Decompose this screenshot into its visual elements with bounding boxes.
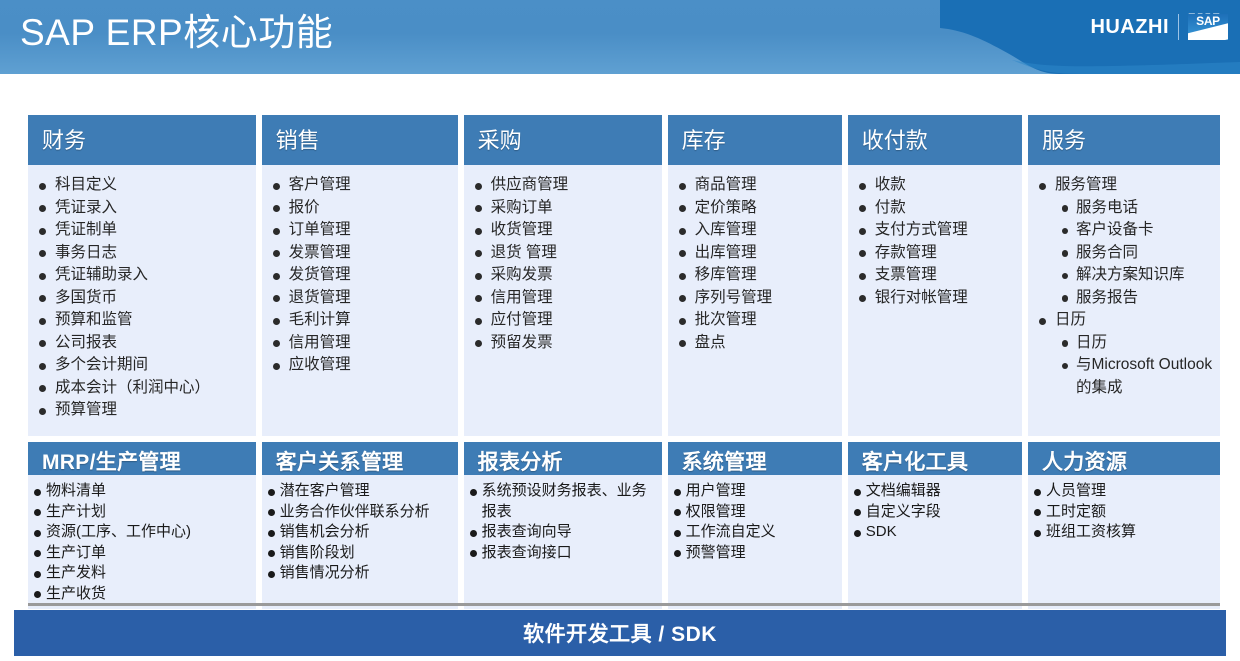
module-card-body: 服务管理 服务电话 客户设备卡 服务合同 解决方案知识库 服务报告 日历 日历 … [1028, 165, 1220, 436]
footer-sdk-bar[interactable]: 软件开发工具 / SDK [14, 610, 1226, 656]
list-item[interactable]: 存款管理 [858, 242, 1016, 265]
header-brand-area: HUAZHI SAP [940, 0, 1240, 74]
module-card-purchasing[interactable]: 采购 供应商管理 采购订单 收货管理 退货 管理 采购发票 信用管理 应付管理 … [464, 115, 662, 436]
module-card-body: 收款 付款 支付方式管理 存款管理 支票管理 银行对帐管理 [848, 165, 1022, 436]
module-item-list: 物料清单 生产计划 资源(工序、工作中心) 生产订单 生产发料 生产收货 [34, 481, 252, 604]
list-item[interactable]: 报表查询向导 [470, 522, 658, 543]
module-item-list: 用户管理 权限管理 工作流自定义 预警管理 [674, 481, 838, 563]
list-item[interactable]: 自定义字段 [854, 502, 1018, 523]
brand-divider [1178, 14, 1179, 40]
list-item[interactable]: 预算和监管 [38, 309, 250, 332]
list-item[interactable]: 发票管理 [272, 242, 452, 265]
module-item-list: 人员管理 工时定额 班组工资核算 [1034, 481, 1216, 543]
sap-logo-badge: SAP [1188, 14, 1228, 40]
list-item[interactable]: 支付方式管理 [858, 219, 1016, 242]
list-item[interactable]: 出库管理 [678, 242, 836, 265]
module-item-list: 系统预设财务报表、业务报表 报表查询向导 报表查询接口 [470, 481, 658, 563]
brand-name: HUAZHI [1090, 14, 1169, 40]
module-item-list: 潜在客户管理 业务合作伙伴联系分析 销售机会分析 销售阶段划 销售情况分析 [268, 481, 454, 584]
list-item[interactable]: 生产计划 [34, 502, 252, 523]
module-card-mrp[interactable]: MRP/生产管理 物料清单 生产计划 资源(工序、工作中心) 生产订单 生产发料… [28, 442, 256, 609]
list-item[interactable]: 班组工资核算 [1034, 522, 1216, 543]
footer-sdk-label: 软件开发工具 / SDK [523, 618, 717, 648]
list-item[interactable]: 收款 [858, 174, 1016, 197]
list-item[interactable]: 付款 [858, 197, 1016, 220]
module-card-title: 财务 [28, 115, 256, 165]
module-card-body: 文档编辑器 自定义字段 SDK [848, 475, 1022, 609]
module-card-body: 系统预设财务报表、业务报表 报表查询向导 报表查询接口 [464, 475, 662, 609]
module-row-primary: 财务 科目定义 凭证录入 凭证制单 事务日志 凭证辅助录入 多国货币 预算和监管… [28, 115, 1220, 436]
module-card-title: 服务 [1028, 115, 1220, 165]
module-card-body: 供应商管理 采购订单 收货管理 退货 管理 采购发票 信用管理 应付管理 预留发… [464, 165, 662, 436]
list-item[interactable]: 生产订单 [34, 543, 252, 564]
list-item[interactable]: SDK [854, 522, 1018, 543]
module-card-system-admin[interactable]: 系统管理 用户管理 权限管理 工作流自定义 预警管理 [668, 442, 842, 609]
module-card-reporting[interactable]: 报表分析 系统预设财务报表、业务报表 报表查询向导 报表查询接口 [464, 442, 662, 609]
list-item[interactable]: 销售机会分析 [268, 522, 454, 543]
list-item[interactable]: 凭证制单 [38, 219, 250, 242]
module-card-crm[interactable]: 客户关系管理 潜在客户管理 业务合作伙伴联系分析 销售机会分析 销售阶段划 销售… [262, 442, 458, 609]
module-card-title: 客户关系管理 [262, 442, 458, 475]
page-header: SAP ERP核心功能 HUAZHI SAP [0, 0, 1240, 74]
list-item[interactable]: 批次管理 [678, 309, 836, 332]
module-card-sales[interactable]: 销售 客户管理 报价 订单管理 发票管理 发货管理 退货管理 毛利计算 信用管理… [262, 115, 458, 436]
list-item[interactable]: 预警管理 [674, 543, 838, 564]
footer-divider [28, 603, 1220, 606]
module-card-title: 采购 [464, 115, 662, 165]
module-item-list: 服务管理 服务电话 客户设备卡 服务合同 解决方案知识库 服务报告 日历 日历 … [1038, 174, 1214, 399]
list-item[interactable]: 发货管理 [272, 264, 452, 287]
module-card-service[interactable]: 服务 服务管理 服务电话 客户设备卡 服务合同 解决方案知识库 服务报告 日历 … [1028, 115, 1220, 436]
list-item[interactable]: 人员管理 [1034, 481, 1216, 502]
module-board: 财务 科目定义 凭证录入 凭证制单 事务日志 凭证辅助录入 多国货币 预算和监管… [0, 74, 1240, 661]
module-row-secondary: MRP/生产管理 物料清单 生产计划 资源(工序、工作中心) 生产订单 生产发料… [28, 442, 1220, 609]
list-item[interactable]: 预算管理 [38, 399, 250, 422]
list-item[interactable]: 收货管理 [474, 219, 656, 242]
list-item[interactable]: 盘点 [678, 332, 836, 355]
list-item[interactable]: 凭证辅助录入 [38, 264, 250, 287]
list-item[interactable]: 服务合同 [1038, 242, 1214, 265]
list-item[interactable]: 应收管理 [272, 354, 452, 377]
module-item-list: 供应商管理 采购订单 收货管理 退货 管理 采购发票 信用管理 应付管理 预留发… [474, 174, 656, 354]
module-card-title: 库存 [668, 115, 842, 165]
list-item[interactable]: 日历 [1038, 309, 1214, 332]
list-item[interactable]: 商品管理 [678, 174, 836, 197]
list-item[interactable]: 客户设备卡 [1038, 219, 1214, 242]
module-card-body: 用户管理 权限管理 工作流自定义 预警管理 [668, 475, 842, 609]
list-item[interactable]: 与Microsoft Outlook 的集成 [1038, 354, 1214, 399]
module-item-list: 收款 付款 支付方式管理 存款管理 支票管理 银行对帐管理 [858, 174, 1016, 309]
module-card-body: 物料清单 生产计划 资源(工序、工作中心) 生产订单 生产发料 生产收货 [28, 475, 256, 609]
list-item[interactable]: 销售阶段划 [268, 543, 454, 564]
module-card-title: 人力资源 [1028, 442, 1220, 475]
list-item[interactable]: 采购订单 [474, 197, 656, 220]
list-item[interactable]: 报价 [272, 197, 452, 220]
module-card-title: MRP/生产管理 [28, 442, 256, 475]
module-card-payments[interactable]: 收付款 收款 付款 支付方式管理 存款管理 支票管理 银行对帐管理 [848, 115, 1022, 436]
list-item[interactable]: 银行对帐管理 [858, 287, 1016, 310]
module-card-body: 客户管理 报价 订单管理 发票管理 发货管理 退货管理 毛利计算 信用管理 应收… [262, 165, 458, 436]
module-card-hr[interactable]: 人力资源 人员管理 工时定额 班组工资核算 [1028, 442, 1220, 609]
list-item[interactable]: 定价策略 [678, 197, 836, 220]
list-item[interactable]: 资源(工序、工作中心) [34, 522, 252, 543]
list-item[interactable]: 多个会计期间 [38, 354, 250, 377]
list-item[interactable]: 服务电话 [1038, 197, 1214, 220]
module-item-list: 商品管理 定价策略 入库管理 出库管理 移库管理 序列号管理 批次管理 盘点 [678, 174, 836, 354]
list-item[interactable]: 业务合作伙伴联系分析 [268, 502, 454, 523]
list-item[interactable]: 服务管理 [1038, 174, 1214, 197]
list-item[interactable]: 生产发料 [34, 563, 252, 584]
list-item[interactable]: 预留发票 [474, 332, 656, 355]
list-item[interactable]: 信用管理 [474, 287, 656, 310]
list-item[interactable]: 解决方案知识库 [1038, 264, 1214, 287]
module-card-body: 人员管理 工时定额 班组工资核算 [1028, 475, 1220, 609]
list-item[interactable]: 序列号管理 [678, 287, 836, 310]
list-item[interactable]: 用户管理 [674, 481, 838, 502]
list-item[interactable]: 公司报表 [38, 332, 250, 355]
list-item[interactable]: 应付管理 [474, 309, 656, 332]
list-item[interactable]: 生产收货 [34, 584, 252, 605]
list-item[interactable]: 多国货币 [38, 287, 250, 310]
page-title: SAP ERP核心功能 [20, 10, 333, 56]
module-card-body: 科目定义 凭证录入 凭证制单 事务日志 凭证辅助录入 多国货币 预算和监管 公司… [28, 165, 256, 436]
module-card-inventory[interactable]: 库存 商品管理 定价策略 入库管理 出库管理 移库管理 序列号管理 批次管理 盘… [668, 115, 842, 436]
list-item[interactable]: 移库管理 [678, 264, 836, 287]
list-item[interactable]: 订单管理 [272, 219, 452, 242]
list-item[interactable]: 权限管理 [674, 502, 838, 523]
list-item[interactable]: 支票管理 [858, 264, 1016, 287]
list-item[interactable]: 潜在客户管理 [268, 481, 454, 502]
module-card-body: 商品管理 定价策略 入库管理 出库管理 移库管理 序列号管理 批次管理 盘点 [668, 165, 842, 436]
list-item[interactable]: 服务报告 [1038, 287, 1214, 310]
list-item[interactable]: 工时定额 [1034, 502, 1216, 523]
list-item[interactable]: 销售情况分析 [268, 563, 454, 584]
list-item[interactable]: 工作流自定义 [674, 522, 838, 543]
list-item[interactable]: 文档编辑器 [854, 481, 1018, 502]
module-item-list: 客户管理 报价 订单管理 发票管理 发货管理 退货管理 毛利计算 信用管理 应收… [272, 174, 452, 377]
brand-lockup: HUAZHI SAP [1090, 12, 1228, 42]
list-item[interactable]: 成本会计（利润中心） [38, 377, 250, 400]
module-item-list: 科目定义 凭证录入 凭证制单 事务日志 凭证辅助录入 多国货币 预算和监管 公司… [38, 174, 250, 422]
list-item[interactable]: 科目定义 [38, 174, 250, 197]
list-item[interactable]: 物料清单 [34, 481, 252, 502]
module-card-customization-tools[interactable]: 客户化工具 文档编辑器 自定义字段 SDK [848, 442, 1022, 609]
list-item[interactable]: 日历 [1038, 332, 1214, 355]
list-item[interactable]: 退货管理 [272, 287, 452, 310]
list-item[interactable]: 入库管理 [678, 219, 836, 242]
list-item[interactable]: 退货 管理 [474, 242, 656, 265]
list-item[interactable]: 信用管理 [272, 332, 452, 355]
sap-badge-text: SAP [1196, 15, 1220, 28]
list-item[interactable]: 系统预设财务报表、业务报表 [470, 481, 658, 522]
list-item[interactable]: 凭证录入 [38, 197, 250, 220]
list-item[interactable]: 毛利计算 [272, 309, 452, 332]
module-card-finance[interactable]: 财务 科目定义 凭证录入 凭证制单 事务日志 凭证辅助录入 多国货币 预算和监管… [28, 115, 256, 436]
module-card-title: 销售 [262, 115, 458, 165]
module-card-title: 系统管理 [668, 442, 842, 475]
list-item[interactable]: 供应商管理 [474, 174, 656, 197]
module-card-title: 报表分析 [464, 442, 662, 475]
list-item[interactable]: 采购发票 [474, 264, 656, 287]
module-card-title: 收付款 [848, 115, 1022, 165]
module-card-title: 客户化工具 [848, 442, 1022, 475]
list-item[interactable]: 客户管理 [272, 174, 452, 197]
module-card-body: 潜在客户管理 业务合作伙伴联系分析 销售机会分析 销售阶段划 销售情况分析 [262, 475, 458, 609]
module-item-list: 文档编辑器 自定义字段 SDK [854, 481, 1018, 543]
list-item[interactable]: 报表查询接口 [470, 543, 658, 564]
list-item[interactable]: 事务日志 [38, 242, 250, 265]
